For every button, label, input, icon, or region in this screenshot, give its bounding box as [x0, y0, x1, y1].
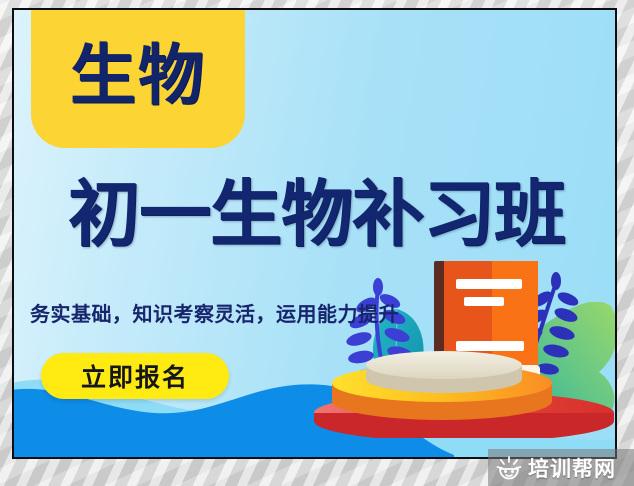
page-title: 初一生物补习班: [24, 178, 609, 250]
course-poster: 生物: [12, 8, 617, 459]
book-podium-illustration: [304, 253, 617, 438]
subject-badge-label: 生物: [70, 43, 206, 109]
podium-top: [366, 351, 522, 393]
site-watermark: 培训帮网: [488, 449, 634, 486]
site-watermark-label: 培训帮网: [528, 453, 616, 483]
sun-smiley-icon: [496, 456, 522, 480]
subtitle-text: 务实基础，知识考察灵活，运用能力提升: [30, 298, 399, 327]
enroll-now-button[interactable]: 立即报名: [41, 353, 229, 399]
subject-badge: 生物: [31, 8, 245, 148]
enroll-now-button-label: 立即报名: [81, 358, 189, 394]
